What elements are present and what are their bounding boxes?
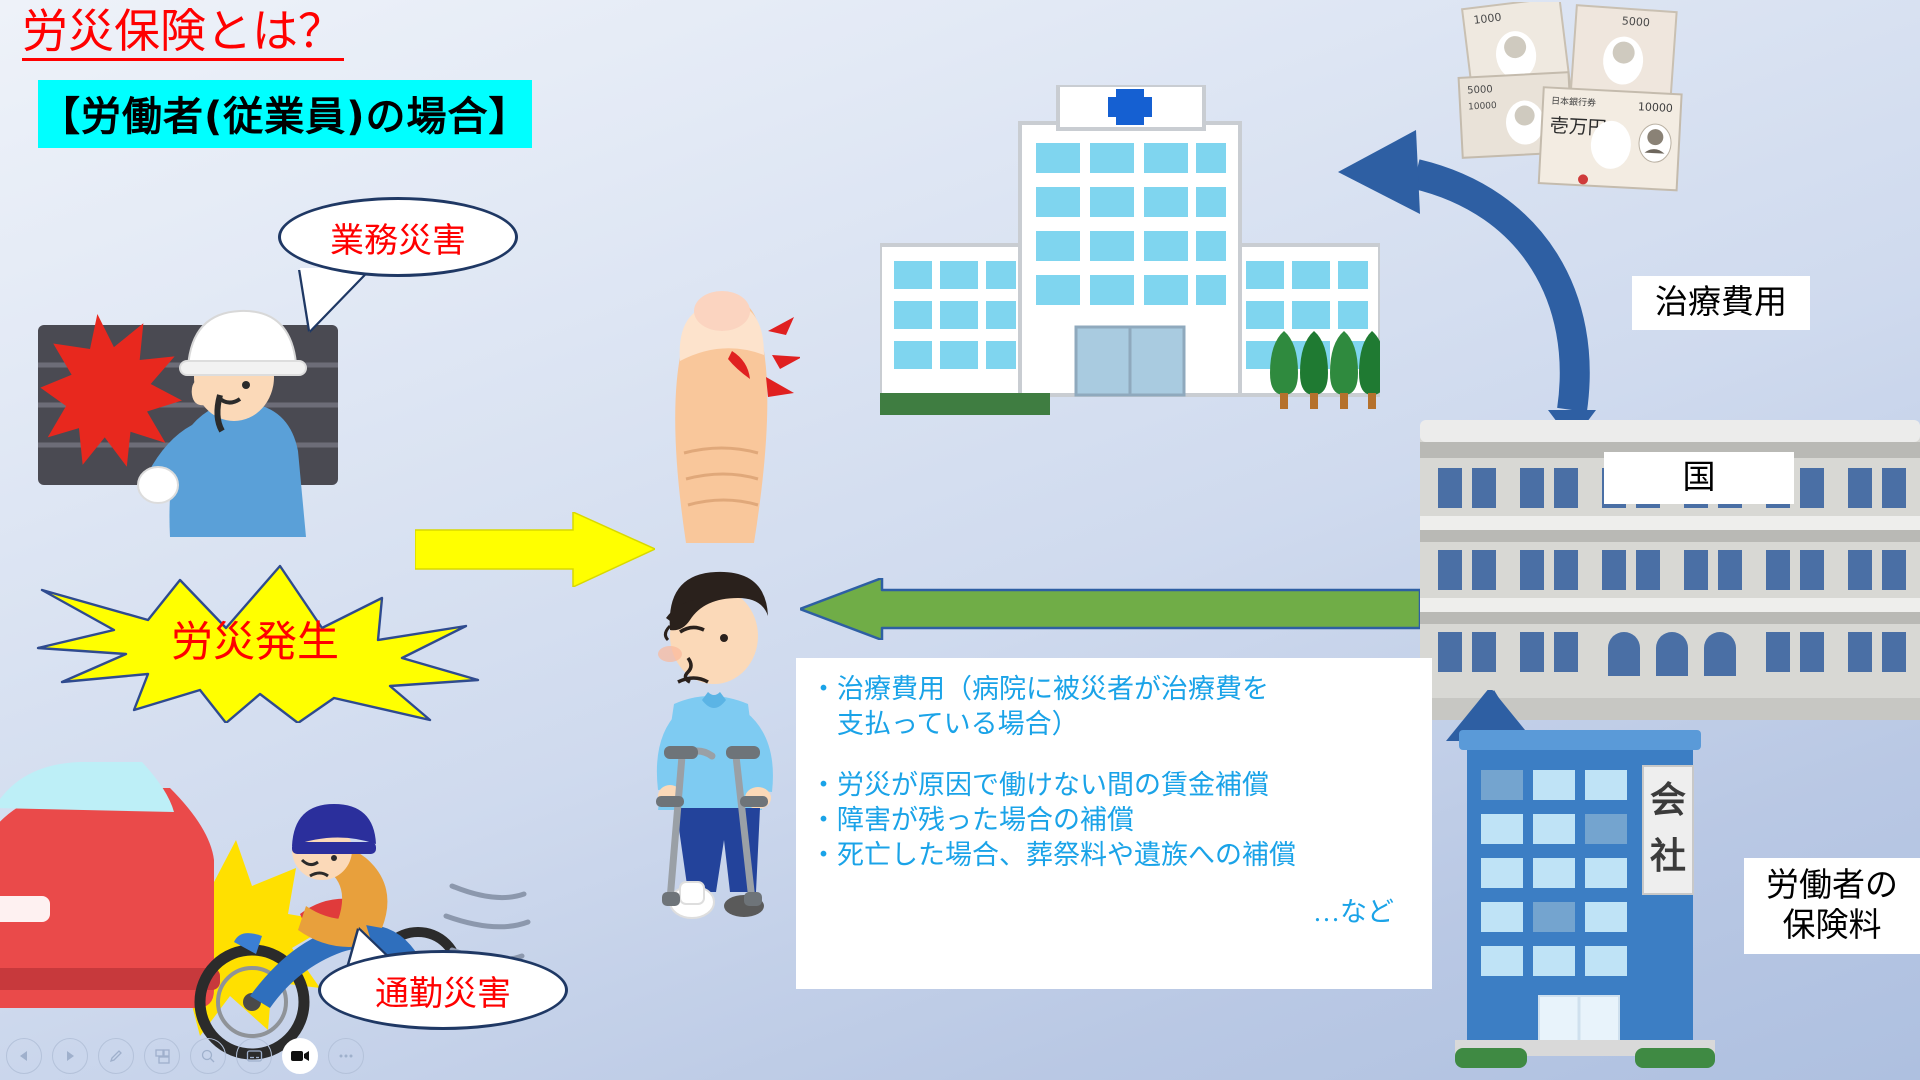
pen-tool-button[interactable]	[98, 1038, 134, 1074]
slide-subtitle: 【労働者(従業員)の場合】	[38, 80, 532, 148]
work-accident-bubble-tail	[300, 268, 370, 330]
note-5000-label: 5000	[1621, 14, 1650, 29]
company-building-illustration: 会 社	[1455, 718, 1715, 1073]
note-5000b-label: 5000	[1467, 84, 1493, 96]
bandaged-finger-illustration	[640, 265, 800, 545]
benefit-line-2: 支払っている場合）	[810, 707, 1432, 742]
work-accident-bubble-label: 業務災害	[330, 213, 466, 262]
insurance-premium-label: 労働者の 保険料	[1744, 858, 1920, 954]
benefit-line-1: ・治療費用（病院に被災者が治療費を	[810, 672, 1432, 707]
subtitles-button[interactable]	[236, 1038, 272, 1074]
nation-text: 国	[1683, 458, 1716, 498]
next-slide-button[interactable]	[52, 1038, 88, 1074]
benefit-line-5: ・死亡した場合、葬祭料や遺族への補償	[810, 838, 1432, 873]
treatment-cost-arrow	[1320, 110, 1610, 440]
injured-man-illustration	[640, 570, 810, 930]
insurance-premium-text-1: 労働者の	[1766, 866, 1898, 906]
nation-label: 国	[1604, 452, 1794, 504]
company-sign-char-2: 社	[1650, 836, 1686, 877]
commute-accident-bubble: 通勤災害	[318, 950, 568, 1030]
treatment-cost-text: 治療費用	[1655, 283, 1787, 323]
hospital-illustration	[880, 85, 1380, 425]
treatment-cost-label: 治療費用	[1632, 276, 1810, 330]
worker-accident-illustration	[20, 285, 440, 545]
work-accident-bubble: 業務災害	[278, 197, 518, 277]
presentation-toolbar[interactable]	[6, 1038, 364, 1074]
commute-accident-bubble-label: 通勤災害	[375, 966, 511, 1015]
benefit-footer: …など	[810, 895, 1432, 930]
accident-occurs-starburst: 労災発生	[30, 558, 480, 723]
all-slides-button[interactable]	[144, 1038, 180, 1074]
more-options-button[interactable]	[328, 1038, 364, 1074]
accident-occurs-label: 労災発生	[171, 620, 339, 666]
note-10000-label: 10000	[1638, 100, 1674, 115]
benefit-line-4: ・障害が残った場合の補償	[810, 803, 1432, 838]
benefits-info-panel: ・治療費用（病院に被災者が治療費を 支払っている場合） ・労災が原因で働けない間…	[796, 658, 1432, 989]
yellow-right-arrow	[415, 512, 655, 587]
page-title: 労災保険とは？	[22, 8, 344, 61]
camera-button[interactable]	[282, 1038, 318, 1074]
benefit-payment-arrow	[800, 578, 1420, 640]
insurance-premium-text-2: 保険料	[1783, 906, 1882, 946]
previous-slide-button[interactable]	[6, 1038, 42, 1074]
zoom-icon[interactable]	[190, 1038, 226, 1074]
panel-spacer	[810, 742, 1432, 768]
company-sign-char-1: 会	[1650, 780, 1686, 821]
benefit-line-3: ・労災が原因で働けない間の賃金補償	[810, 768, 1432, 803]
